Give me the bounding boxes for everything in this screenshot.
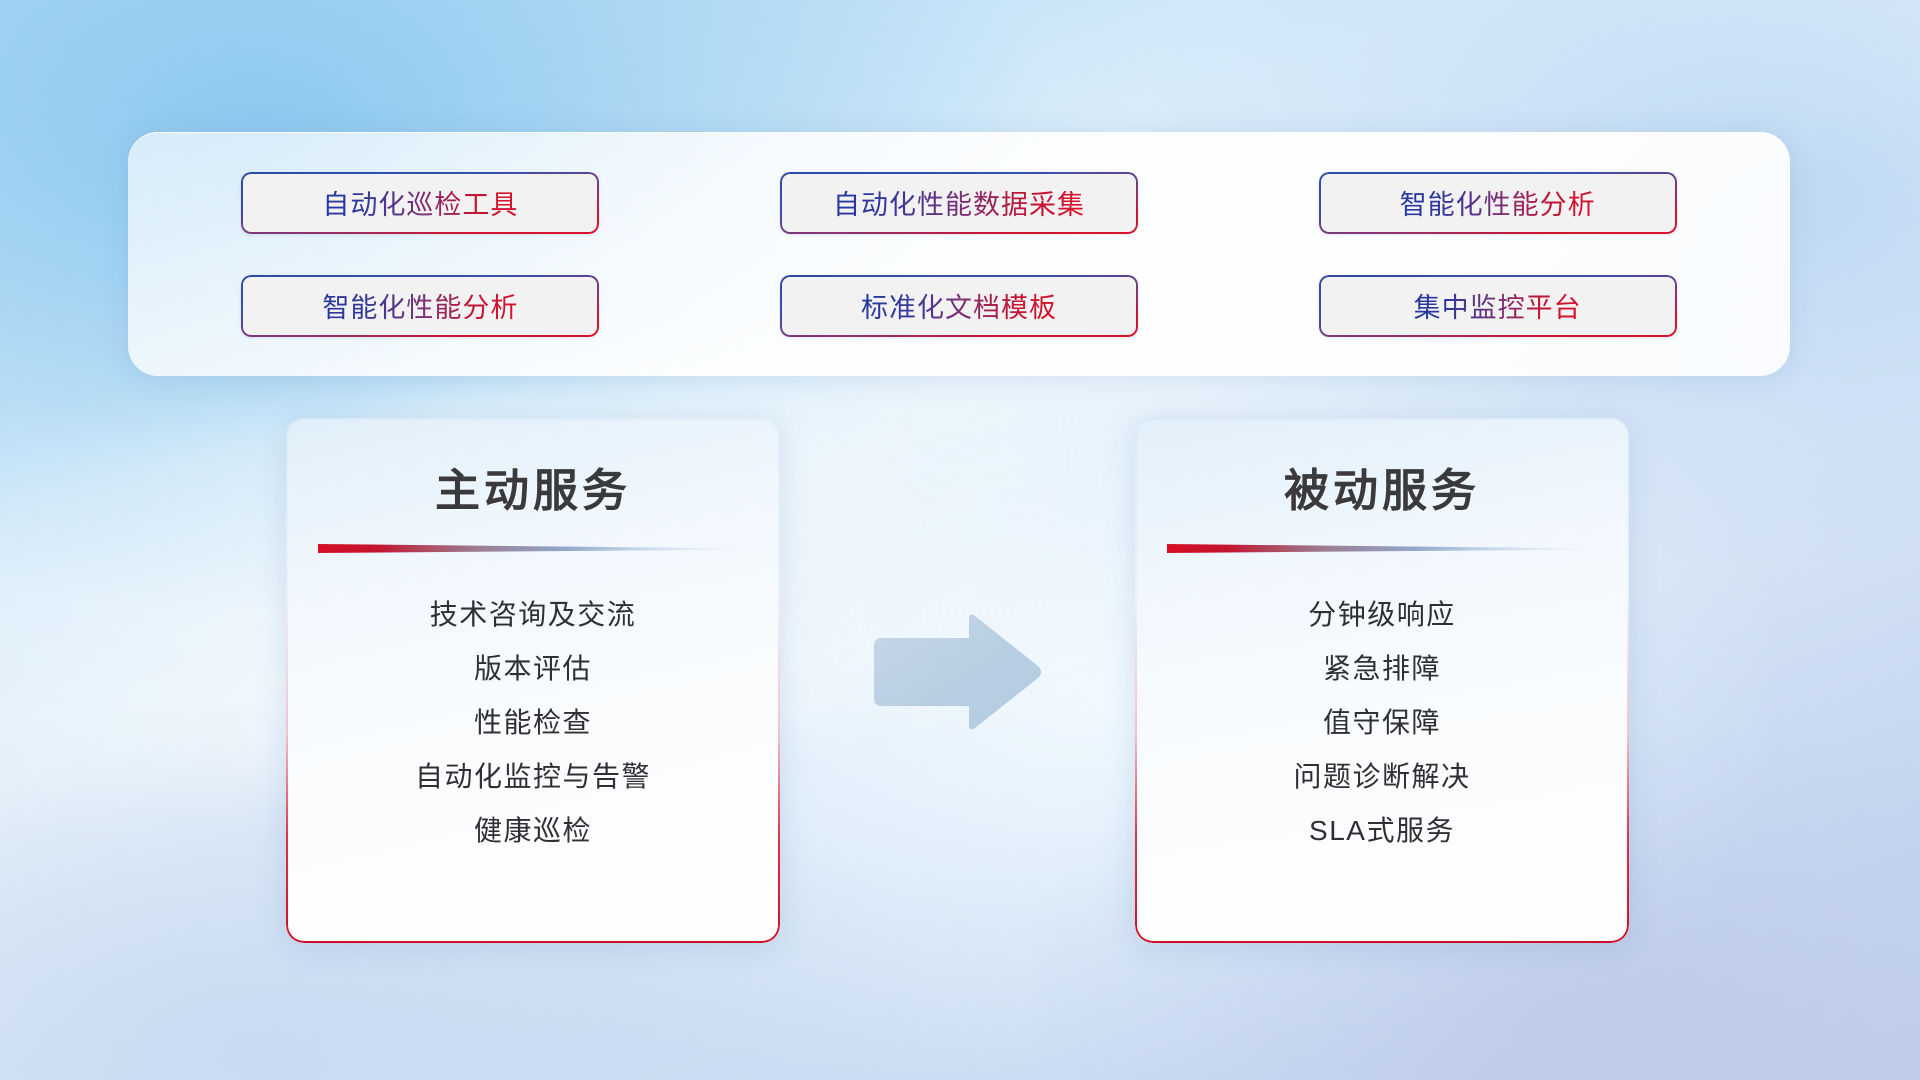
capability-tag-intelligent-performance-analysis-1[interactable]: 智能化性能分析 bbox=[1319, 172, 1677, 234]
service-list-item: SLA式服务 bbox=[1135, 804, 1629, 858]
service-item-list: 技术咨询及交流 版本评估 性能检查 自动化监控与告警 健康巡检 bbox=[286, 588, 780, 858]
service-list-item: 紧急排障 bbox=[1135, 642, 1629, 696]
service-card-title: 主动服务 bbox=[286, 454, 780, 519]
service-list-item: 分钟级响应 bbox=[1135, 588, 1629, 642]
capability-tag-label: 智能化性能分析 bbox=[1400, 183, 1596, 222]
service-list-item: 问题诊断解决 bbox=[1135, 750, 1629, 804]
title-underline-wedge bbox=[1167, 543, 1597, 554]
service-card-title: 被动服务 bbox=[1135, 454, 1629, 519]
capability-tag-label: 自动化性能数据采集 bbox=[833, 183, 1085, 222]
service-list-item: 版本评估 bbox=[286, 642, 780, 696]
capability-tag-label: 智能化性能分析 bbox=[322, 286, 518, 325]
service-list-item: 性能检查 bbox=[286, 696, 780, 750]
capability-tag-label: 集中监控平台 bbox=[1414, 286, 1582, 325]
title-underline-wedge bbox=[318, 543, 748, 554]
capability-tag-centralized-monitoring-platform[interactable]: 集中监控平台 bbox=[1319, 275, 1677, 337]
service-card-proactive: 主动服务 技术咨询及交流 版本评估 性能检查 自动化监控与告警 健康巡检 bbox=[286, 418, 780, 943]
service-item-list: 分钟级响应 紧急排障 值守保障 问题诊断解决 SLA式服务 bbox=[1135, 588, 1629, 858]
service-card-reactive: 被动服务 分钟级响应 紧急排障 值守保障 问题诊断解决 SLA式服务 bbox=[1135, 418, 1629, 943]
capability-tag-standardized-document-template[interactable]: 标准化文档模板 bbox=[780, 275, 1138, 337]
capability-tag-automated-performance-data-collection[interactable]: 自动化性能数据采集 bbox=[780, 172, 1138, 234]
service-list-item: 健康巡检 bbox=[286, 804, 780, 858]
service-list-item: 自动化监控与告警 bbox=[286, 750, 780, 804]
capability-tag-automated-inspection-tool[interactable]: 自动化巡检工具 bbox=[241, 172, 599, 234]
capability-tag-intelligent-performance-analysis-2[interactable]: 智能化性能分析 bbox=[241, 275, 599, 337]
right-arrow-icon bbox=[868, 612, 1043, 732]
capability-tags-panel: 自动化巡检工具 自动化性能数据采集 智能化性能分析 智能化性能分析 标准化文档模… bbox=[128, 132, 1790, 376]
service-list-item: 技术咨询及交流 bbox=[286, 588, 780, 642]
service-list-item: 值守保障 bbox=[1135, 696, 1629, 750]
capability-tag-label: 标准化文档模板 bbox=[861, 286, 1057, 325]
capability-tag-label: 自动化巡检工具 bbox=[322, 183, 518, 222]
